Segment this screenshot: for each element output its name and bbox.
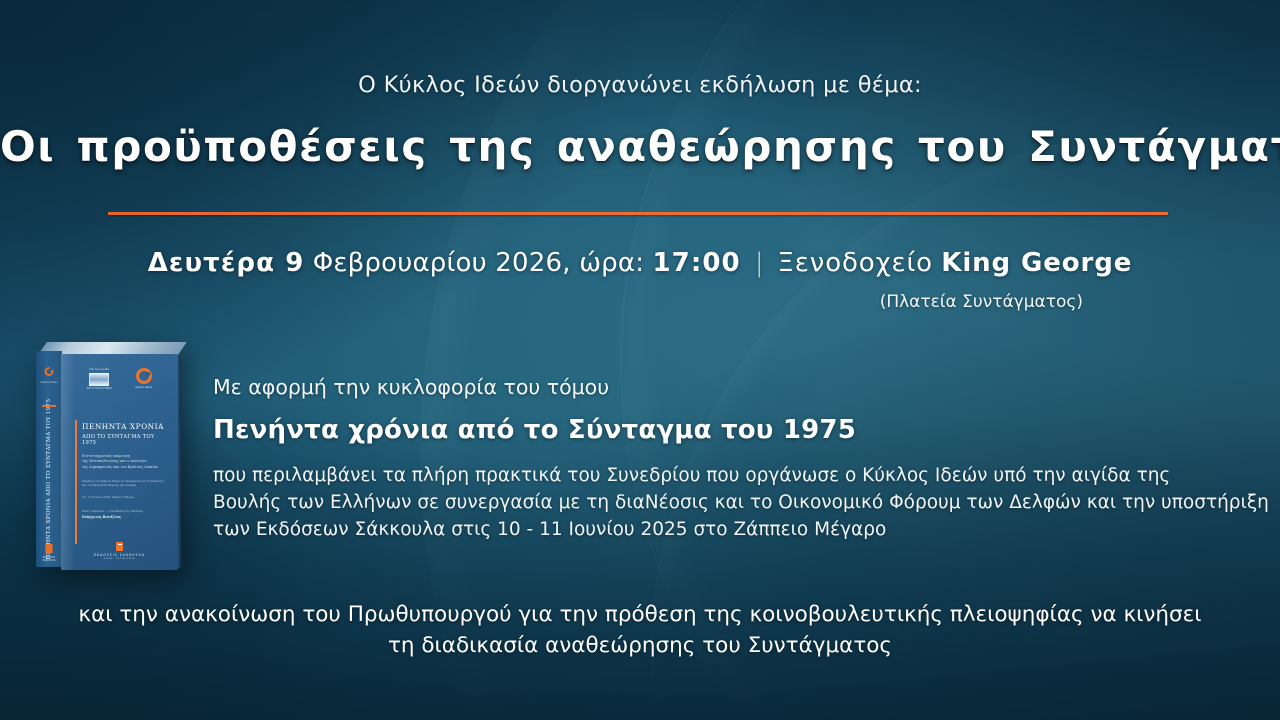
venue-location: (Πλατεία Συντάγματος) — [0, 292, 1083, 312]
page-title: Οι προϋποθέσεις της αναθεώρησης του Συντ… — [0, 122, 1280, 171]
closing-line-1: και την ανακοίνωση του Πρωθυπουργού για … — [0, 600, 1280, 631]
poster-kicker: Ο Κύκλος Ιδεών διοργανώνει εκδήλωση με θ… — [0, 72, 1280, 98]
description-line-3: των Εκδόσεων Σάκκουλα στις 10 - 11 Ιουνί… — [213, 516, 1253, 543]
description-line-2: Βουλής των Ελλήνων σε συνεργασία με τη δ… — [213, 489, 1253, 516]
accent-divider — [108, 212, 1168, 215]
closing-line-2: τη διαδικασία αναθεώρησης του Συντάγματο… — [0, 631, 1280, 662]
occasion-line: Με αφορμή την κυκλοφορία του τόμου — [213, 375, 1253, 399]
event-poster: κύκλος ιδεών ΠΕΝΗΝΤΑ ΧΡΟΝΙΑ ΑΠΟ ΤΟ ΣΥΝΤΑ… — [0, 0, 1280, 720]
event-datetime-bar: Δευτέρα 9 Φεβρουαρίου 2026, ώρα: 17:00|Ξ… — [0, 248, 1280, 278]
venue-name: King George — [941, 248, 1132, 278]
description-paragraph: που περιλαμβάνει τα πλήρη πρακτικά του Σ… — [213, 462, 1253, 544]
venue-prefix: Ξενοδοχείο — [777, 248, 933, 278]
event-day: Δευτέρα 9 — [148, 248, 305, 278]
closing-statement: και την ανακοίνωση του Πρωθυπουργού για … — [0, 600, 1280, 662]
description-line-1: που περιλαμβάνει τα πλήρη πρακτικά του Σ… — [213, 462, 1253, 489]
datetime-separator: | — [741, 248, 778, 278]
volume-title: Πενήντα χρόνια από το Σύνταγμα του 1975 — [213, 415, 1253, 445]
poster-body: Με αφορμή την κυκλοφορία του τόμου Πενήν… — [213, 375, 1253, 544]
event-month-year: Φεβρουαρίου 2026, ώρα: — [313, 248, 645, 278]
poster-content: Ο Κύκλος Ιδεών διοργανώνει εκδήλωση με θ… — [0, 0, 1280, 720]
event-time: 17:00 — [652, 248, 740, 278]
